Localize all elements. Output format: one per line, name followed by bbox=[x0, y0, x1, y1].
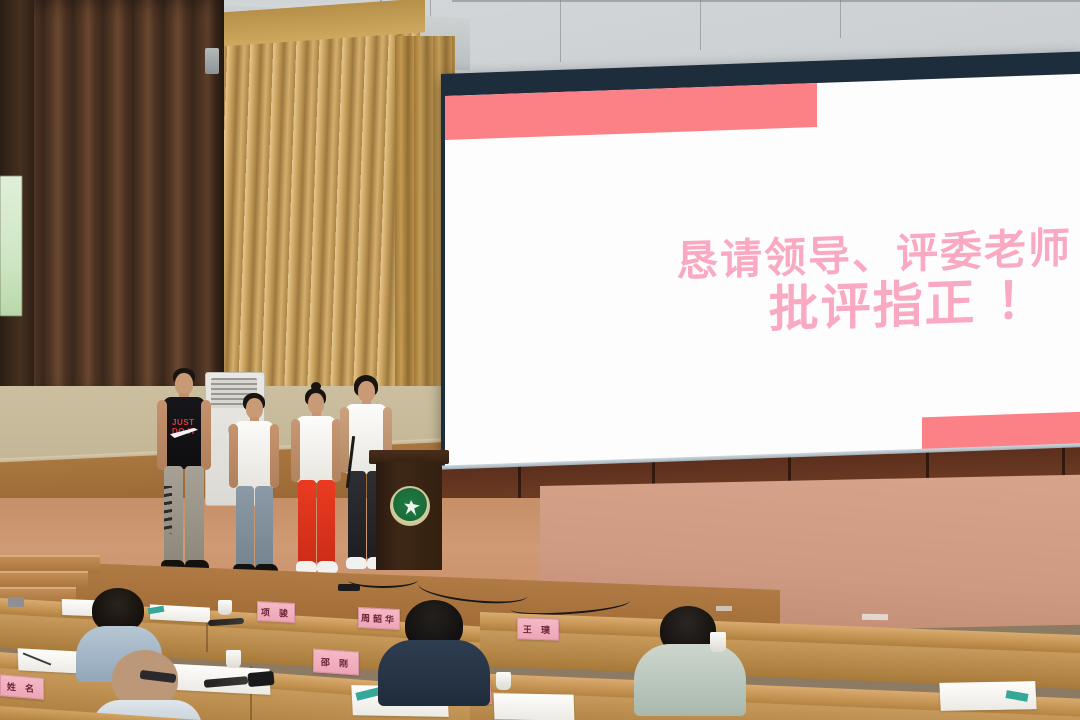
slide-surface: 恳请领导、评委老师 批评指正 ！ bbox=[445, 74, 1080, 494]
stage-label bbox=[716, 606, 732, 611]
name-card: 邵 刚 bbox=[313, 648, 359, 675]
stage-label bbox=[862, 614, 888, 620]
dark-curtain bbox=[14, 0, 224, 400]
arm-left bbox=[291, 419, 300, 482]
name-card: 王 璞 bbox=[517, 617, 559, 640]
arm-right bbox=[201, 400, 211, 470]
head bbox=[175, 373, 193, 395]
document-stack[interactable] bbox=[18, 648, 85, 674]
paper-cup[interactable] bbox=[226, 650, 241, 668]
shoe-right bbox=[317, 561, 338, 573]
leg-left bbox=[298, 480, 316, 565]
head bbox=[308, 393, 324, 414]
window-light bbox=[0, 176, 22, 316]
arm-left bbox=[157, 400, 167, 470]
paper-cup[interactable] bbox=[496, 672, 511, 690]
wall-seam bbox=[452, 0, 1080, 2]
paper-cup[interactable] bbox=[710, 632, 726, 652]
head bbox=[358, 381, 375, 402]
tea-cup[interactable] bbox=[218, 600, 232, 615]
wall-seam bbox=[700, 0, 701, 50]
slide-text-block: 恳请领导、评委老师 批评指正 ！ bbox=[445, 224, 1080, 349]
leg-right bbox=[255, 486, 273, 568]
smartphone[interactable] bbox=[247, 671, 274, 687]
leg-left bbox=[348, 471, 366, 561]
name-card: 周韶华 bbox=[358, 607, 400, 630]
emblem-figure bbox=[404, 500, 420, 516]
document-stack[interactable] bbox=[494, 693, 575, 720]
leg-right bbox=[185, 466, 204, 564]
leg-right bbox=[317, 480, 335, 565]
projection-screen[interactable]: 恳请领导、评委老师 批评指正 ！ bbox=[441, 74, 1080, 499]
hair-bun bbox=[311, 382, 321, 391]
name-card: 姓 名 bbox=[0, 674, 44, 700]
torso-shirt bbox=[296, 416, 336, 483]
ceiling-speaker bbox=[205, 48, 219, 74]
cable-connector bbox=[338, 584, 360, 591]
shoulders bbox=[634, 644, 746, 716]
desk-fixture bbox=[8, 597, 24, 607]
wall-seam bbox=[840, 0, 841, 38]
name-card: 项 骏 bbox=[257, 601, 295, 623]
head bbox=[246, 398, 263, 419]
torso-shirt bbox=[234, 421, 274, 489]
leg-left bbox=[236, 486, 254, 568]
pants-stripe bbox=[164, 486, 172, 534]
shoulders bbox=[378, 640, 490, 706]
arm-left bbox=[340, 407, 349, 473]
school-emblem-icon bbox=[390, 486, 430, 526]
wall-seam bbox=[560, 0, 561, 62]
shirt-logo-text: JUST DO IT bbox=[172, 418, 198, 427]
arm-left bbox=[229, 424, 238, 488]
shoe-left bbox=[346, 557, 367, 569]
auditorium-scene: 恳请领导、评委老师 批评指正 ！ JUST DO IT bbox=[0, 0, 1080, 720]
arm-right bbox=[270, 424, 279, 488]
